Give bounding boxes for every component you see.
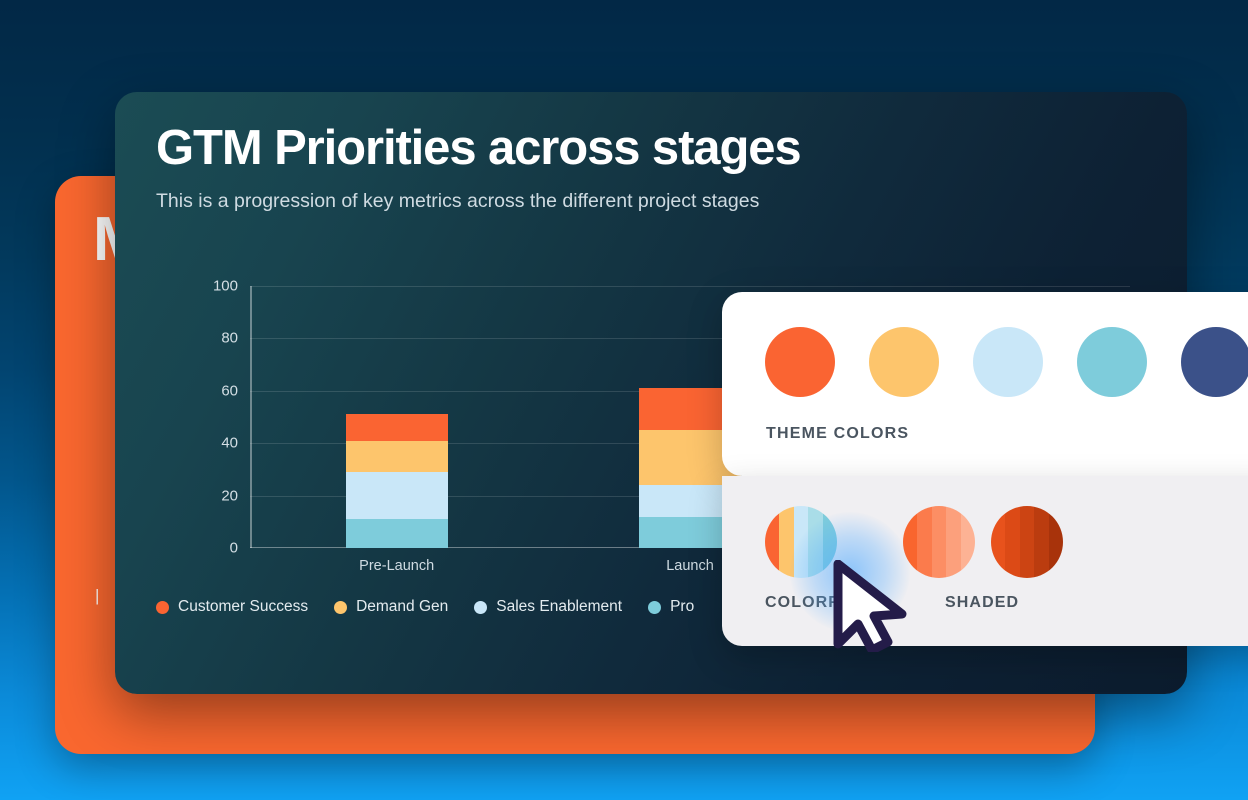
swatch-stripe [779,506,793,578]
theme-swatch-5[interactable] [1181,327,1248,397]
swatch-stripe [991,506,1005,578]
bar-pre-launch[interactable] [346,414,448,548]
swatch-stripe [794,506,808,578]
theme-swatch-4[interactable] [1077,327,1147,397]
style-option-shaded[interactable]: SHADED [991,506,1063,612]
y-axis-tick-label: 100 [170,278,250,295]
shaded-light-swatch-icon[interactable] [903,506,975,578]
colorful-swatch-icon[interactable] [765,506,837,578]
theme-swatch-1[interactable] [765,327,835,397]
y-axis-tick-label: 80 [170,330,250,347]
theme-swatch-2[interactable] [869,327,939,397]
y-axis-line [250,286,252,548]
legend-item-label: Demand Gen [356,598,448,616]
swatch-stripe [932,506,946,578]
legend-color-dot-icon [648,601,661,614]
style-option-colorful-label: COLORFUL [765,594,863,612]
swatch-stripe [903,506,917,578]
legend-item[interactable]: Pro [648,598,694,616]
bar-segment[interactable] [346,414,448,440]
bar-segment[interactable] [346,519,448,548]
y-axis-tick-label: 0 [170,540,250,557]
orange-card-subtitle: | [95,586,99,606]
shaded-dark-swatch-icon[interactable] [991,506,1063,578]
swatch-stripe [765,506,779,578]
shaded-swatch-light-option[interactable] [903,506,975,578]
swatch-stripe [946,506,960,578]
page-title: GTM Priorities across stages [156,120,801,176]
swatch-stripe [961,506,975,578]
chart-legend: Customer SuccessDemand GenSales Enableme… [156,598,694,616]
legend-color-dot-icon [156,601,169,614]
page-subtitle: This is a progression of key metrics acr… [156,190,759,213]
legend-item-label: Pro [670,598,694,616]
style-option-colorful[interactable]: COLORFUL [765,506,863,612]
swatch-stripe [1020,506,1034,578]
bar-segment[interactable] [346,441,448,472]
style-option-shaded-label: SHADED [945,594,1063,612]
y-axis-tick-label: 20 [170,487,250,504]
legend-item-label: Sales Enablement [496,598,622,616]
y-axis-ticks: 020406080100 [156,286,250,548]
legend-color-dot-icon [474,601,487,614]
theme-swatch-row[interactable] [765,327,1248,397]
legend-item[interactable]: Demand Gen [334,598,448,616]
theme-swatch-3[interactable] [973,327,1043,397]
x-axis-tick-label: Pre-Launch [317,558,477,574]
legend-item-label: Customer Success [178,598,308,616]
swatch-stripe [917,506,931,578]
bar-segment[interactable] [346,472,448,519]
swatch-stripe [1005,506,1019,578]
theme-colors-label: THEME COLORS [766,425,909,443]
swatch-stripe [823,506,837,578]
chart-style-panel: COLORFUL SHADED [722,476,1248,646]
swatch-stripe [1034,506,1048,578]
grid-line [250,286,1130,287]
y-axis-tick-label: 40 [170,435,250,452]
legend-item[interactable]: Customer Success [156,598,308,616]
y-axis-tick-label: 60 [170,382,250,399]
theme-colors-panel: THEME COLORS [722,292,1248,476]
legend-item[interactable]: Sales Enablement [474,598,622,616]
swatch-stripe [808,506,822,578]
swatch-stripe [1049,506,1063,578]
legend-color-dot-icon [334,601,347,614]
